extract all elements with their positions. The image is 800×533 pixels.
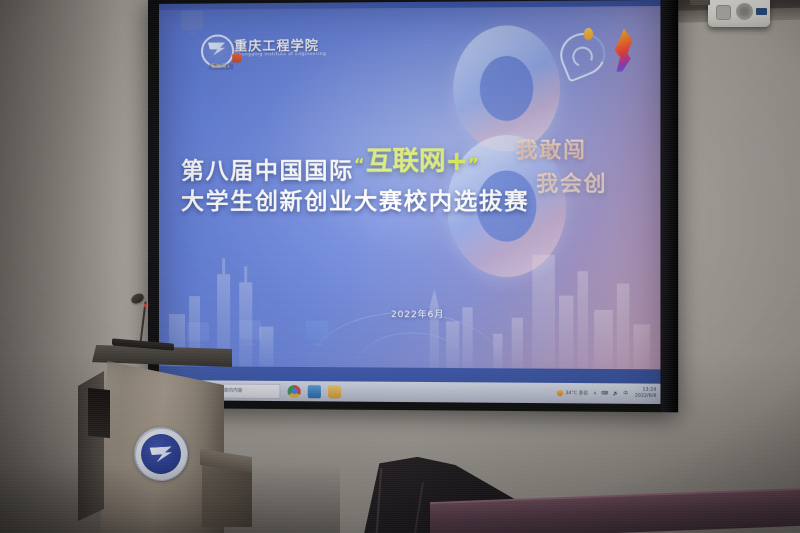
emblem-accent-dot bbox=[584, 28, 593, 40]
title-highlight: 互联网+ bbox=[366, 146, 468, 176]
system-tray-icons[interactable]: ∧ ⌨ 🔊 中 bbox=[593, 390, 629, 396]
rainbow-wing-emblem-icon bbox=[610, 29, 633, 72]
slide-title-line2: 大学生创新创业大赛校内选拔赛 bbox=[181, 186, 485, 216]
quote-close: ” bbox=[468, 154, 480, 173]
quote-open: “ bbox=[354, 155, 366, 174]
sun-icon bbox=[557, 390, 563, 396]
lectern-control-panel bbox=[88, 388, 110, 438]
projector-badge bbox=[756, 8, 767, 15]
mail-icon[interactable] bbox=[308, 385, 321, 398]
weather-widget[interactable]: 34°C 多云 bbox=[557, 390, 588, 396]
projector-fan-icon bbox=[736, 3, 753, 20]
taskbar-clock[interactable]: 13:24 2022/6/8 bbox=[635, 388, 656, 400]
microphone-led-indicator bbox=[144, 304, 147, 307]
slide-title: 第八届中国国际“互联网+” 大学生创新创业大赛校内选拔赛 bbox=[181, 149, 485, 217]
slogan-line2: 我会创 bbox=[536, 167, 639, 201]
projector-mount bbox=[690, 0, 710, 5]
file-explorer-icon[interactable] bbox=[328, 385, 341, 398]
floor-shadow bbox=[0, 463, 340, 533]
presentation-slide: 重庆工程学院 Chongqing Institute of Engineerin… bbox=[159, 6, 661, 369]
university-logo: 重庆工程学院 Chongqing Institute of Engineerin… bbox=[201, 33, 320, 74]
slide-slogan: 我敢闯 我会创 bbox=[516, 134, 640, 201]
weather-label: 34°C 多云 bbox=[565, 390, 588, 396]
taskbar-tray[interactable]: 34°C 多云 ∧ ⌨ 🔊 中 13:24 2022/6/8 bbox=[557, 387, 660, 400]
projector-lens-icon bbox=[716, 5, 731, 20]
slide-date: 2022年6月 bbox=[391, 307, 444, 320]
chrome-icon[interactable] bbox=[288, 385, 301, 398]
eight-top-ring bbox=[453, 25, 560, 151]
clock-date: 2022/6/8 bbox=[635, 394, 656, 400]
city-skyline-graphic bbox=[159, 216, 661, 369]
competition-emblems bbox=[560, 29, 641, 74]
powerpoint-badge-icon bbox=[232, 53, 241, 62]
room-scene: 新建 文档 回收站 此电脑 bbox=[0, 0, 800, 533]
projection-screen: 新建 文档 回收站 此电脑 bbox=[159, 0, 661, 404]
windows-taskbar[interactable]: 在这里输入你要搜索的内容 34°C 多云 ∧ ⌨ 🔊 中 13:24 2022/… bbox=[159, 380, 661, 404]
title-prefix: 第八届中国国际 bbox=[181, 158, 354, 184]
slogan-line1: 我敢闯 bbox=[516, 138, 587, 163]
slide-title-line1: 第八届中国国际“互联网+” bbox=[181, 149, 485, 186]
university-sub-label: 互联网+ bbox=[209, 64, 233, 70]
university-name-en: Chongqing Institute of Engineering bbox=[235, 52, 326, 58]
ceiling-projector bbox=[708, 0, 770, 27]
